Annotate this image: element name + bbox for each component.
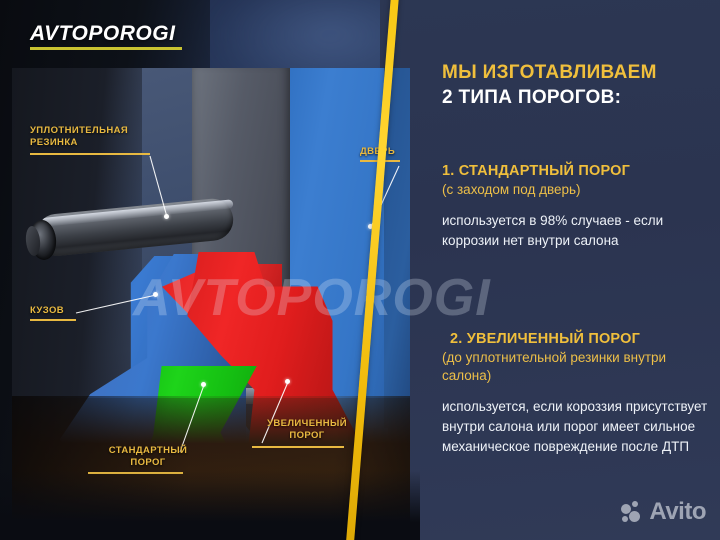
label-rule-kuzov bbox=[30, 319, 76, 321]
section-standard-sill: 1. СТАНДАРТНЫЙ ПОРОГ (с заходом под двер… bbox=[442, 162, 714, 251]
callout-dot-body bbox=[153, 292, 158, 297]
panel-heading: МЫ ИЗГОТАВЛИВАЕМ 2 ТИПА ПОРОГОВ: bbox=[442, 60, 712, 110]
panel-heading-line2: 2 ТИПА ПОРОГОВ: bbox=[442, 85, 712, 110]
callout-dot-seal bbox=[164, 214, 169, 219]
label-rule-seal bbox=[30, 153, 150, 155]
brand-logo-underline bbox=[30, 47, 182, 50]
section-extended-sill: 2. УВЕЛИЧЕННЫЙ ПОРОГ (до уплотнительной … bbox=[442, 330, 714, 457]
label-uplotnitelnaya-rezinka: УПЛОТНИТЕЛЬНАЯ РЕЗИНКА bbox=[30, 125, 170, 149]
section-1-body: используется в 98% случаев - если корроз… bbox=[442, 211, 714, 251]
label-rule-extended bbox=[252, 446, 344, 448]
avito-wordmark: Avito bbox=[649, 498, 706, 526]
brand-logo: AVTOPOROGI bbox=[30, 22, 175, 46]
avito-logo-icon bbox=[621, 501, 645, 523]
section-2-title: 2. УВЕЛИЧЕННЫЙ ПОРОГ bbox=[442, 330, 714, 349]
label-kuzov: КУЗОВ bbox=[30, 305, 110, 317]
section-2-subtitle: (до уплотнительной резинки внутри салона… bbox=[442, 349, 714, 385]
panel-heading-line1: МЫ ИЗГОТАВЛИВАЕМ bbox=[442, 60, 712, 85]
section-1-subtitle: (с заходом под дверь) bbox=[442, 181, 714, 199]
infographic-canvas: AVTOPOROGI AVTOPOROGI bbox=[0, 0, 720, 540]
label-uvelichennyy-porog: УВЕЛИЧЕННЫЙ ПОРОГ bbox=[252, 418, 362, 442]
label-standartnyy-porog: СТАНДАРТНЫЙ ПОРОГ bbox=[88, 445, 208, 469]
section-1-title: 1. СТАНДАРТНЫЙ ПОРОГ bbox=[442, 162, 714, 181]
callout-dot-standard bbox=[201, 382, 206, 387]
avito-watermark: Avito bbox=[621, 498, 706, 526]
callout-dot-extended bbox=[285, 379, 290, 384]
section-2-body: используется, если короззия присутствует… bbox=[442, 397, 714, 457]
label-dver: ДВЕРЬ bbox=[360, 146, 420, 158]
